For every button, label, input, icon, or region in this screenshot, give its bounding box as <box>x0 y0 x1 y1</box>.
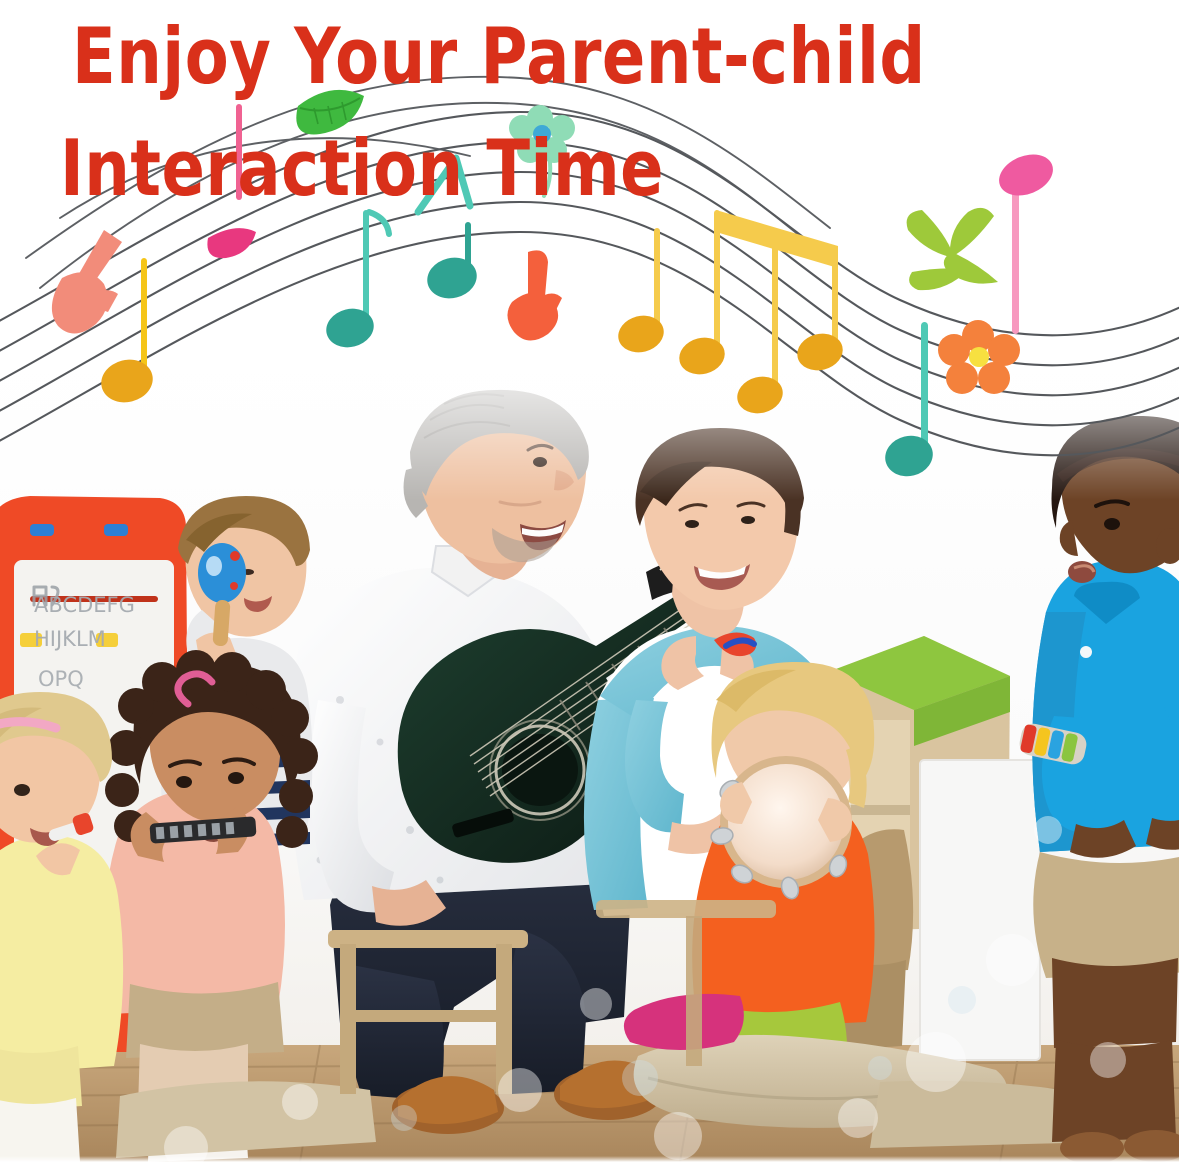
svg-text:HIJKLM: HIJKLM <box>34 627 106 651</box>
headline-block: Enjoy Your Parent-child Interaction Time <box>60 18 1060 196</box>
svg-text:OPQ: OPQ <box>38 667 84 691</box>
svg-text:ABCDEFG: ABCDEFG <box>34 593 135 617</box>
headline-line-2: Interaction Time <box>60 130 1030 208</box>
headline-line-1: Enjoy Your Parent-child <box>72 18 1030 96</box>
banner-image: ABCDEFG HIJKLM OPQ U V <box>0 0 1179 1162</box>
